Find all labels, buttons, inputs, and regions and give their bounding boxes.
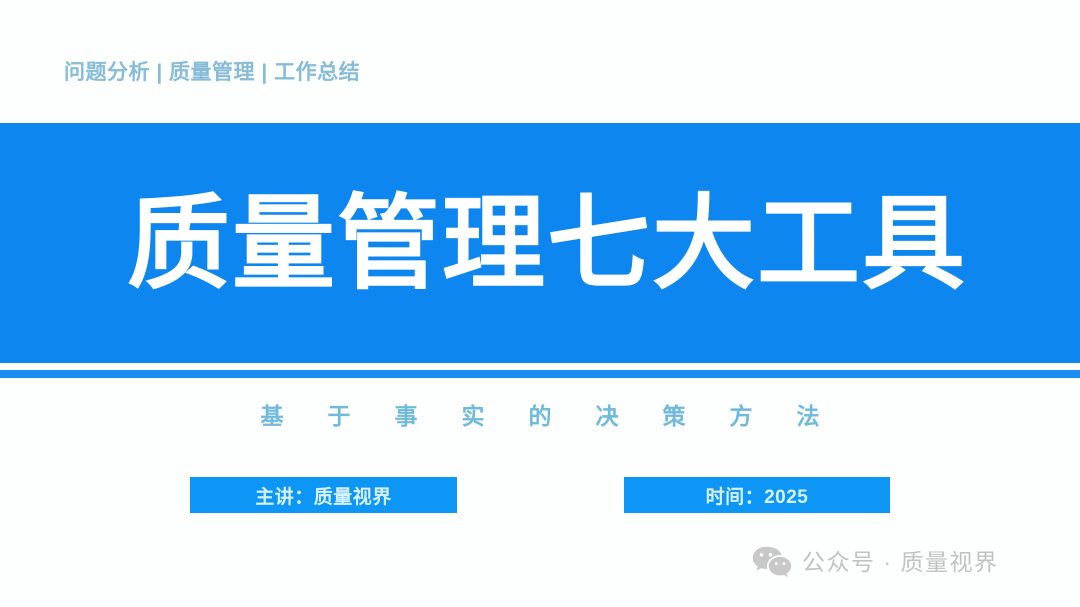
presentation-slide: 问题分析 | 质量管理 | 工作总结 质量管理七大工具 基于事实的决策方法 主讲… bbox=[0, 0, 1080, 607]
wechat-icon bbox=[752, 545, 792, 579]
slide-kicker: 问题分析 | 质量管理 | 工作总结 bbox=[64, 60, 360, 85]
watermark: 公众号 · 质量视界 bbox=[752, 545, 998, 579]
slide-subtitle: 基于事实的决策方法 bbox=[0, 400, 1080, 432]
slide-title: 质量管理七大工具 bbox=[0, 123, 1080, 363]
title-banner: 质量管理七大工具 bbox=[0, 123, 1080, 363]
date-badge: 时间：2025 bbox=[624, 477, 890, 513]
banner-underline-rule bbox=[0, 370, 1080, 378]
speaker-badge: 主讲：质量视界 bbox=[190, 477, 457, 513]
watermark-label: 公众号 · 质量视界 bbox=[802, 551, 998, 574]
